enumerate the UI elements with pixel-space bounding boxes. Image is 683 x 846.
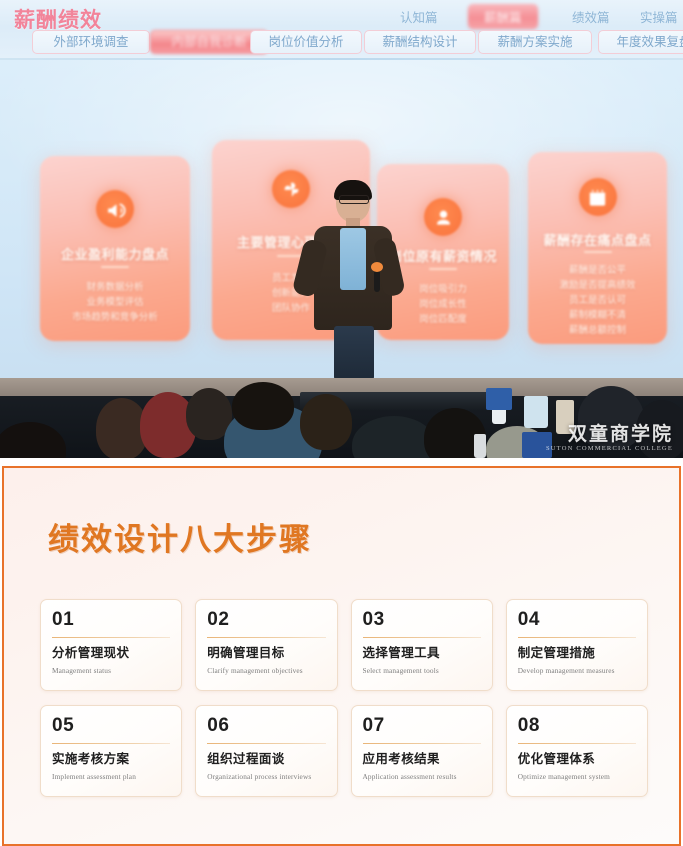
speaker-glasses — [339, 195, 369, 204]
step-tab-row: 外部环境调查内部自我诊断岗位价值分析薪酬结构设计薪酬方案实施年度效果复盘 — [0, 30, 683, 56]
step-number: 01 — [52, 609, 170, 631]
step-tab-6[interactable]: 年度效果复盘 — [598, 30, 683, 54]
top-navigation-bar: 薪酬绩效 认知篇薪酬篇绩效篇实操篇 外部环境调查内部自我诊断岗位价值分析薪酬结构… — [0, 0, 683, 60]
paper-cup — [486, 388, 512, 410]
step-divider — [518, 637, 636, 638]
step-tab-4[interactable]: 薪酬结构设计 — [364, 30, 476, 54]
step-title-en: Clarify management objectives — [207, 666, 325, 676]
step-tab-5[interactable]: 薪酬方案实施 — [478, 30, 592, 54]
slide-card-list-item: 财务数据分析 — [40, 280, 190, 295]
step-divider — [518, 743, 636, 744]
watermark-cn: 双童商学院 — [546, 424, 673, 445]
person-icon — [424, 198, 462, 236]
step-title-en: Application assessment results — [363, 772, 481, 782]
slide-card-list: 财务数据分析业务模型评估市场趋势和竞争分析 — [40, 280, 190, 325]
audience-area: 双童商学院 SUTON COMMERCIAL COLLEGE — [0, 378, 683, 458]
watermark: 双童商学院 SUTON COMMERCIAL COLLEGE — [546, 424, 673, 452]
audience-head — [0, 422, 66, 458]
slide-card-list: 薪酬是否公平激励是否提高绩效员工是否认可薪制模糊不清薪酬总额控制 — [528, 263, 667, 338]
calendar-icon — [579, 178, 617, 216]
step-number: 08 — [518, 715, 636, 737]
step-title-cn: 实施考核方案 — [52, 751, 170, 767]
slide-card-list-item: 薪制模糊不清 — [528, 308, 667, 323]
chapter-tab-4[interactable]: 实操篇 — [640, 7, 678, 26]
slide-card-4: 薪酬存在痛点盘点薪酬是否公平激励是否提高绩效员工是否认可薪制模糊不清薪酬总额控制 — [528, 152, 667, 344]
step-title-en: Organizational process interviews — [207, 772, 325, 782]
step-title-en: Management status — [52, 666, 170, 676]
slide-card-list-item: 市场趋势和竞争分析 — [40, 310, 190, 325]
slide-card-list-item: 员工是否认可 — [528, 293, 667, 308]
slide-card-list-item: 薪酬是否公平 — [528, 263, 667, 278]
step-tab-1[interactable]: 外部环境调查 — [32, 30, 150, 54]
step-divider — [363, 637, 481, 638]
slide-card-list-item: 薪酬总额控制 — [528, 323, 667, 338]
speaker-figure — [296, 182, 404, 378]
step-title-cn: 制定管理措施 — [518, 645, 636, 661]
slide-card-list-item: 业务模型评估 — [40, 295, 190, 310]
step-number: 07 — [363, 715, 481, 737]
step-title-cn: 组织过程面谈 — [207, 751, 325, 767]
panel-title: 绩效设计八大步骤 — [48, 514, 312, 559]
step-title-cn: 明确管理目标 — [207, 645, 325, 661]
notebook — [524, 396, 548, 428]
step-title-cn: 应用考核结果 — [363, 751, 481, 767]
step-number: 03 — [363, 609, 481, 631]
lecture-photo: 企业盈利能力盘点财务数据分析业务模型评估市场趋势和竞争分析主要管理心理预期员工发… — [0, 60, 683, 458]
step-title-cn: 选择管理工具 — [363, 645, 481, 661]
slide-card-title: 薪酬存在痛点盘点 — [528, 230, 667, 249]
step-card-04[interactable]: 04制定管理措施Develop management measures — [506, 599, 648, 691]
step-card-01[interactable]: 01分析管理现状Management status — [40, 599, 182, 691]
slide-card-divider — [584, 251, 612, 253]
step-title-cn: 优化管理体系 — [518, 751, 636, 767]
microphone-head — [371, 262, 383, 272]
megaphone-icon — [96, 190, 134, 228]
step-card-06[interactable]: 06组织过程面谈Organizational process interview… — [195, 705, 337, 797]
step-card-03[interactable]: 03选择管理工具Select management tools — [351, 599, 493, 691]
step-card-08[interactable]: 08优化管理体系Optimize management system — [506, 705, 648, 797]
step-card-05[interactable]: 05实施考核方案Implement assessment plan — [40, 705, 182, 797]
chapter-tab-2[interactable]: 薪酬篇 — [468, 4, 538, 29]
step-divider — [363, 743, 481, 744]
speaker-legs — [334, 326, 374, 380]
chapter-tab-row: 认知篇薪酬篇绩效篇实操篇 — [0, 5, 683, 29]
step-tab-3[interactable]: 岗位价值分析 — [250, 30, 362, 54]
audience-head — [300, 394, 352, 450]
slide-card-list-item: 激励是否提高绩效 — [528, 278, 667, 293]
step-title-en: Implement assessment plan — [52, 772, 170, 782]
chapter-tab-1[interactable]: 认知篇 — [400, 7, 438, 26]
steps-panel: 绩效设计八大步骤 01分析管理现状Management status02明确管理… — [2, 466, 681, 846]
audience-head — [232, 382, 294, 430]
slide-card-divider — [429, 268, 457, 270]
step-divider — [207, 637, 325, 638]
watermark-en: SUTON COMMERCIAL COLLEGE — [546, 445, 673, 452]
chapter-tab-3[interactable]: 绩效篇 — [572, 7, 610, 26]
step-title-en: Select management tools — [363, 666, 481, 676]
slide-card-divider — [101, 266, 129, 268]
step-title-cn: 分析管理现状 — [52, 645, 170, 661]
speaker-shirt — [340, 228, 366, 290]
step-card-02[interactable]: 02明确管理目标Clarify management objectives — [195, 599, 337, 691]
step-divider — [207, 743, 325, 744]
slide-card-1: 企业盈利能力盘点财务数据分析业务模型评估市场趋势和竞争分析 — [40, 156, 190, 341]
step-number: 02 — [207, 609, 325, 631]
step-number: 04 — [518, 609, 636, 631]
step-divider — [52, 637, 170, 638]
step-number: 05 — [52, 715, 170, 737]
step-number: 06 — [207, 715, 325, 737]
slide-card-title: 企业盈利能力盘点 — [40, 244, 190, 263]
step-title-en: Develop management measures — [518, 666, 636, 676]
step-card-07[interactable]: 07应用考核结果Application assessment results — [351, 705, 493, 797]
step-title-en: Optimize management system — [518, 772, 636, 782]
step-divider — [52, 743, 170, 744]
steps-grid: 01分析管理现状Management status02明确管理目标Clarify… — [40, 599, 648, 797]
water-bottle — [474, 434, 486, 458]
